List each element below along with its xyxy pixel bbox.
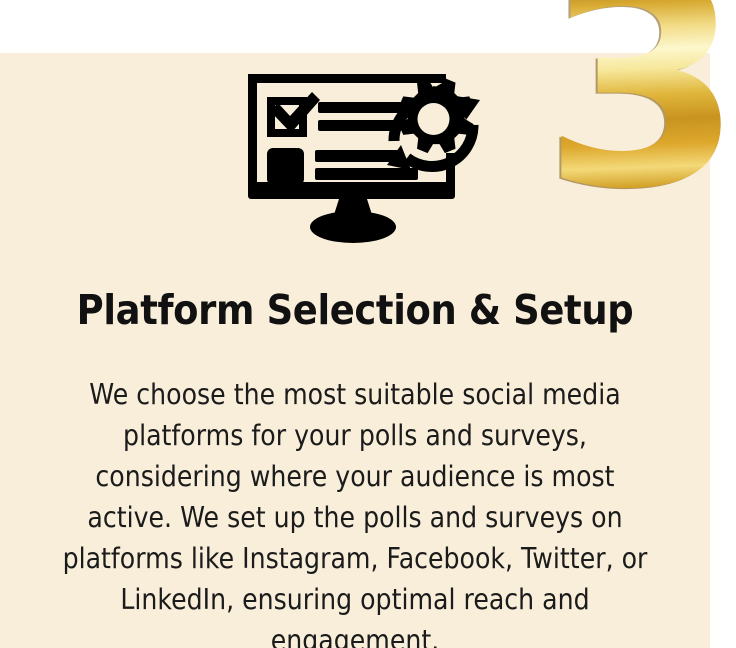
checklist-line-1 — [318, 102, 402, 113]
page-title: Platform Selection & Setup — [36, 285, 675, 335]
checklist-line-4 — [315, 168, 418, 180]
checklist-line-3 — [315, 150, 401, 162]
monitor-bottom-bar — [248, 184, 455, 199]
gear — [399, 78, 474, 153]
filled-square — [267, 148, 304, 185]
monitor-base — [310, 211, 396, 243]
step-card: 3 — [0, 0, 736, 648]
monitor-checklist-gear-icon — [243, 62, 488, 247]
checklist-line-2 — [318, 120, 402, 131]
monitor-frame-left — [248, 74, 257, 191]
card-body-text: We choose the most suitable social media… — [48, 374, 662, 648]
